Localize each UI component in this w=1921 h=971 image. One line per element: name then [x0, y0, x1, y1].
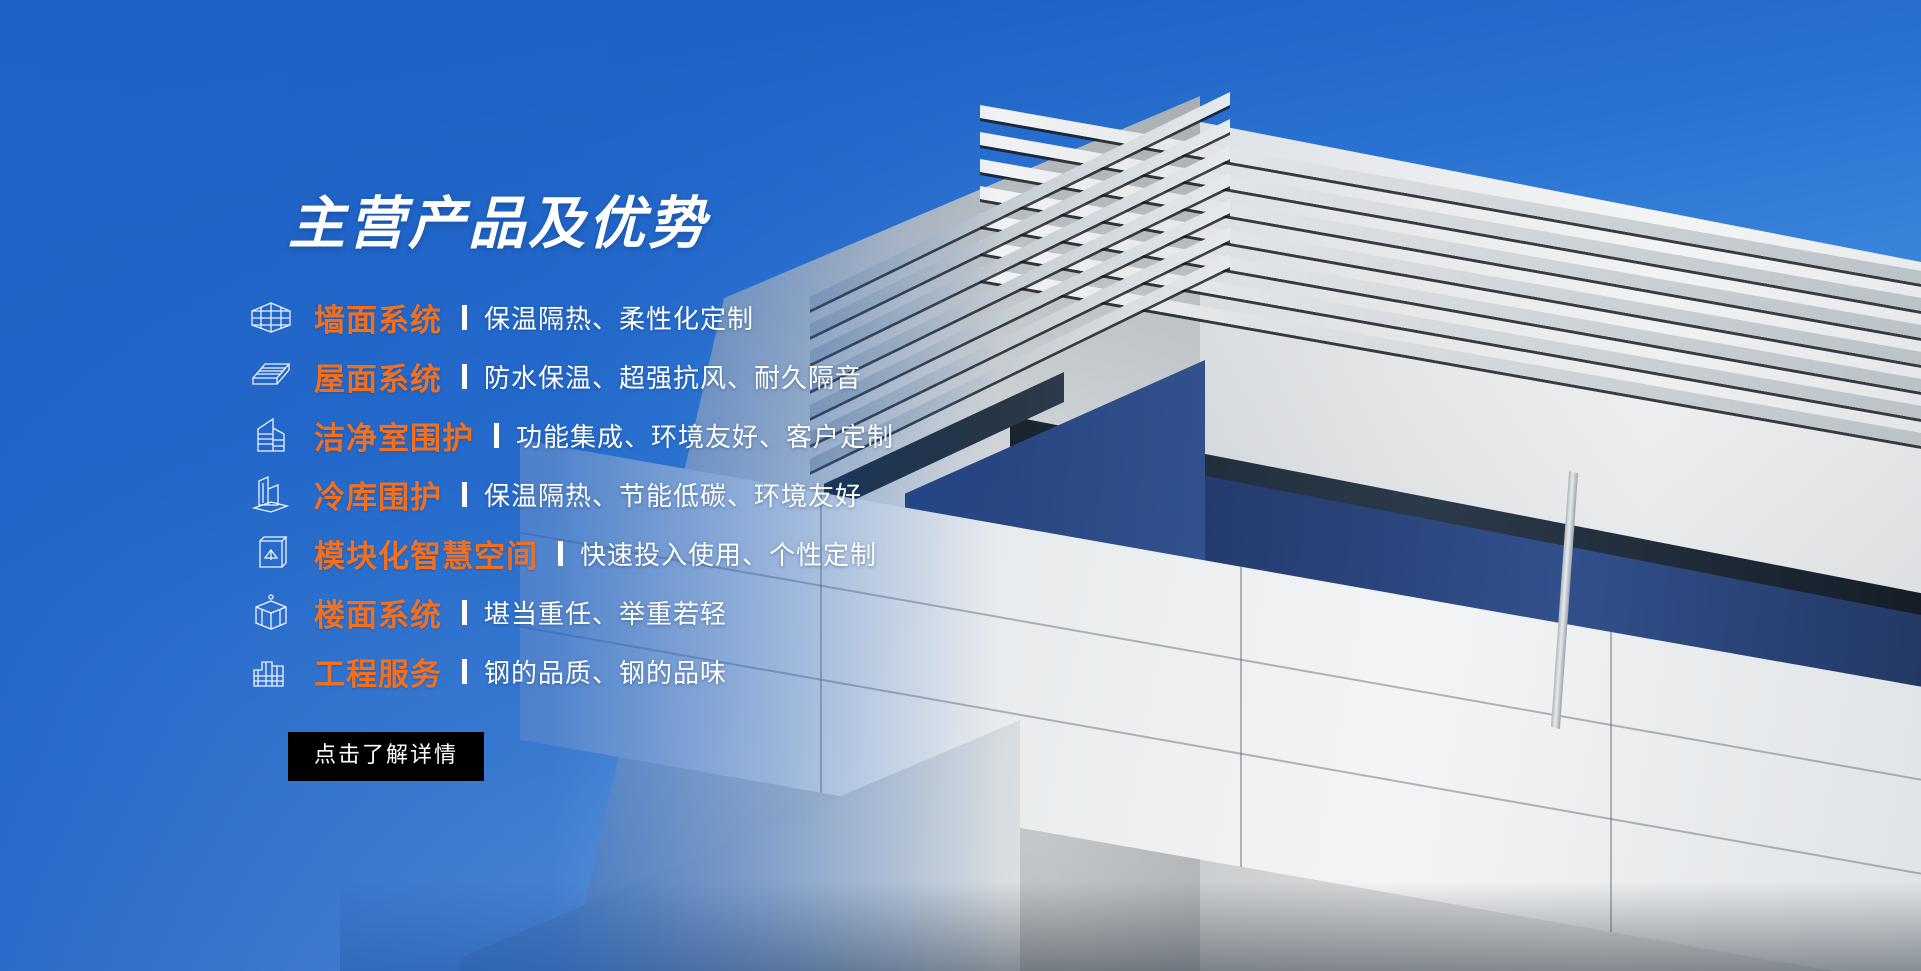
engineering-service-icon: [244, 650, 298, 692]
list-item[interactable]: 工程服务 钢的品质、钢的品味: [288, 643, 1288, 699]
list-item[interactable]: 冷库围护 保温隔热、节能低碳、环境友好: [288, 466, 1288, 522]
list-item[interactable]: 模块化智慧空间 快速投入使用、个性定制: [288, 525, 1288, 581]
product-title: 屋面系统: [314, 354, 442, 399]
modular-space-icon: [244, 532, 298, 574]
product-desc: 快速投入使用、个性定制: [580, 535, 877, 572]
banner-content: 主营产品及优势 墙面系统 保温隔热、柔性化定制: [288, 196, 1288, 781]
wall-panel-icon: [244, 296, 298, 338]
product-desc: 保温隔热、柔性化定制: [484, 299, 754, 336]
product-title: 冷库围护: [314, 472, 442, 517]
separator-bar: [462, 364, 467, 389]
product-desc: 功能集成、环境友好、客户定制: [516, 417, 894, 454]
product-desc: 保温隔热、节能低碳、环境友好: [484, 476, 862, 513]
product-title: 楼面系统: [314, 590, 442, 635]
product-desc: 堪当重任、举重若轻: [484, 594, 727, 631]
separator-bar: [494, 423, 499, 448]
separator-bar: [558, 541, 563, 566]
product-title: 工程服务: [314, 649, 442, 694]
hero-banner: 主营产品及优势 墙面系统 保温隔热、柔性化定制: [0, 0, 1921, 971]
roof-panel-icon: [244, 355, 298, 397]
list-item[interactable]: 洁净室围护 功能集成、环境友好、客户定制: [288, 407, 1288, 463]
list-item[interactable]: 墙面系统 保温隔热、柔性化定制: [288, 289, 1288, 345]
product-title: 墙面系统: [314, 295, 442, 340]
separator-bar: [462, 600, 467, 625]
separator-bar: [462, 659, 467, 684]
page-title: 主营产品及优势: [288, 196, 1288, 253]
list-item[interactable]: 楼面系统 堪当重任、举重若轻: [288, 584, 1288, 640]
product-title: 洁净室围护: [314, 413, 474, 458]
product-desc: 防水保温、超强抗风、耐久隔音: [484, 358, 862, 395]
list-item[interactable]: 屋面系统 防水保温、超强抗风、耐久隔音: [288, 348, 1288, 404]
floor-deck-icon: [244, 591, 298, 633]
product-desc: 钢的品质、钢的品味: [484, 653, 727, 690]
cleanroom-building-icon: [244, 414, 298, 456]
separator-bar: [462, 482, 467, 507]
cold-storage-icon: [244, 473, 298, 515]
product-title: 模块化智慧空间: [314, 531, 538, 576]
learn-more-button[interactable]: 点击了解详情: [288, 732, 484, 781]
separator-bar: [462, 305, 467, 330]
product-list: 墙面系统 保温隔热、柔性化定制 屋面系统 防水保温、超强抗风、耐久隔音: [288, 289, 1288, 699]
